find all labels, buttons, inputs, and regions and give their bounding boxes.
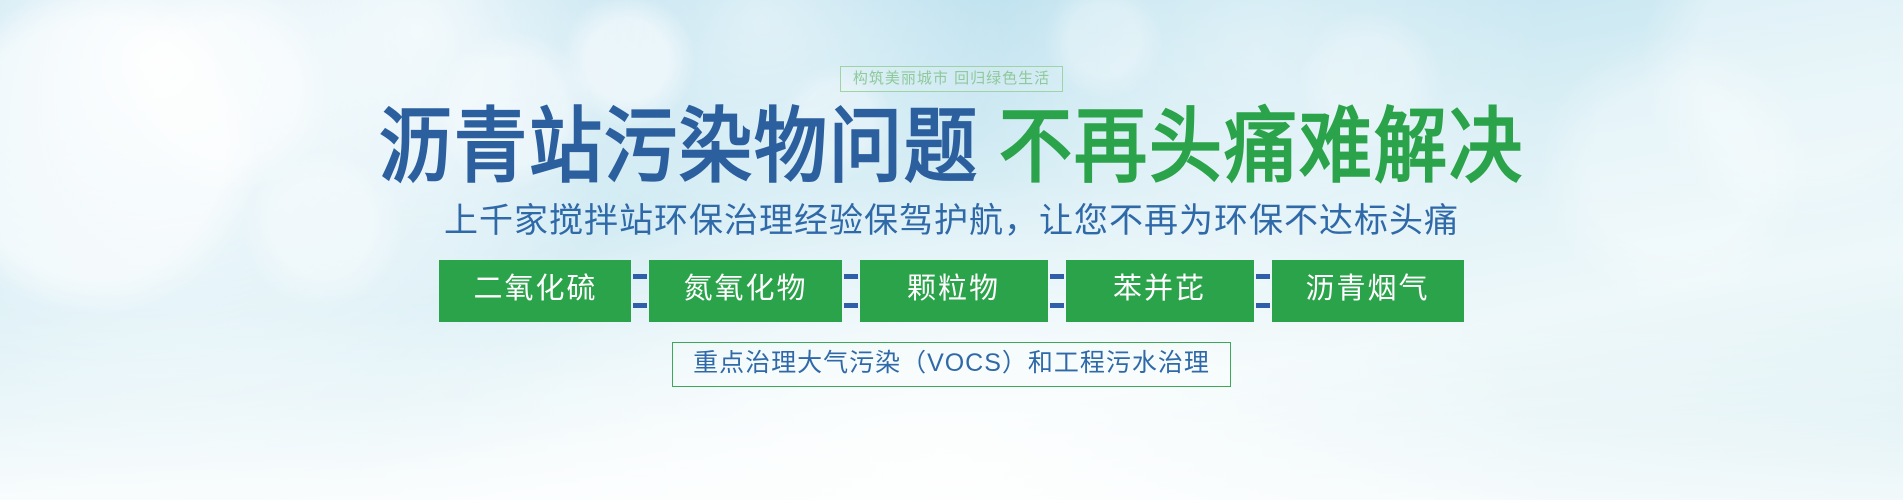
- focus-treatment-note: 重点治理大气污染（VOCS）和工程污水治理: [672, 342, 1231, 387]
- tag-item[interactable]: 氮氧化物: [649, 260, 841, 321]
- headline: 沥青站污染物问题不再头痛难解决: [0, 106, 1903, 188]
- headline-accent: 不再头痛难解决: [999, 99, 1524, 194]
- separator-dash-bottom-icon: [633, 303, 647, 308]
- pollutant-tag-list: 二氧化硫 氮氧化物 颗粒物 苯并芘 沥青烟气: [0, 260, 1903, 321]
- subtitle: 上千家搅拌站环保治理经验保驾护航，让您不再为环保不达标头痛: [0, 203, 1903, 240]
- promo-banner: 构筑美丽城市 回归绿色生活 沥青站污染物问题不再头痛难解决 上千家搅拌站环保治理…: [0, 0, 1903, 500]
- separator-dash-bottom-icon: [844, 303, 858, 308]
- tag-separator: [637, 260, 643, 321]
- tag-item[interactable]: 二氧化硫: [439, 260, 631, 321]
- separator-dash-top-icon: [1050, 274, 1064, 279]
- banner-content: 构筑美丽城市 回归绿色生活 沥青站污染物问题不再头痛难解决 上千家搅拌站环保治理…: [0, 0, 1903, 387]
- tag-item[interactable]: 颗粒物: [860, 260, 1048, 321]
- separator-dash-bottom-icon: [1050, 303, 1064, 308]
- tag-item[interactable]: 苯并芘: [1066, 260, 1254, 321]
- separator-dash-bottom-icon: [1256, 303, 1270, 308]
- headline-primary: 沥青站污染物问题: [379, 99, 979, 194]
- tag-separator: [1054, 260, 1060, 321]
- note-row: 重点治理大气污染（VOCS）和工程污水治理: [0, 342, 1903, 387]
- separator-dash-top-icon: [633, 274, 647, 279]
- tag-separator: [1260, 260, 1266, 321]
- tagline-row: 构筑美丽城市 回归绿色生活: [0, 0, 1903, 92]
- separator-dash-top-icon: [1256, 274, 1270, 279]
- tagline-badge: 构筑美丽城市 回归绿色生活: [840, 66, 1063, 92]
- separator-dash-top-icon: [844, 274, 858, 279]
- tag-item[interactable]: 沥青烟气: [1272, 260, 1464, 321]
- tag-separator: [848, 260, 854, 321]
